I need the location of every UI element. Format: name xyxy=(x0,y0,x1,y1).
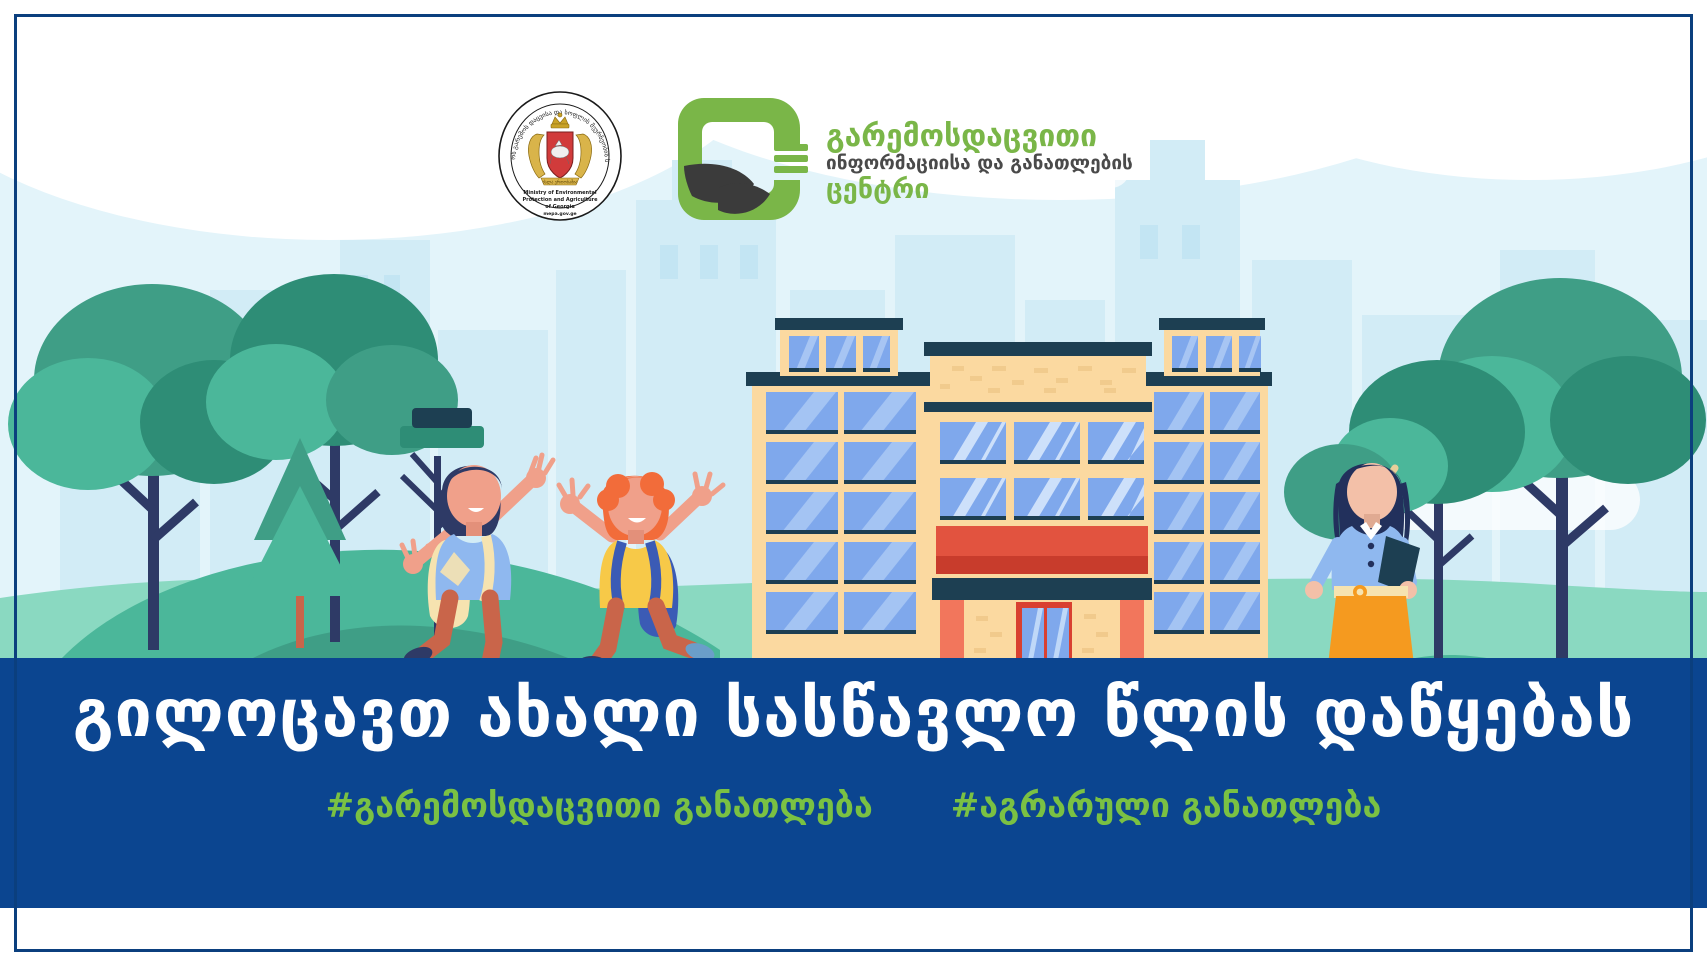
school-building xyxy=(744,280,1274,665)
ceie-wordmark: გარემოსდაცვითი ინფორმაციისა და განათლები… xyxy=(826,122,1116,204)
svg-text:ძალა ერთობაშია: ძალა ერთობაშია xyxy=(542,180,577,185)
student-boy-waving xyxy=(540,450,730,670)
logo-row: საქართველოს გარემოს დაცვისა და სოფლის მე… xyxy=(0,40,1707,200)
ceie-book-mark-icon xyxy=(678,92,818,222)
headline-text: გილოცავთ ახალი სასწავლო წლის დაწყებას xyxy=(0,678,1707,751)
ceie-logo: გარემოსდაცვითი ინფორმაციისა და განათლები… xyxy=(678,92,1108,224)
ceie-line-2: ინფორმაციისა და განათლების xyxy=(826,152,1116,176)
teacher-with-pointer xyxy=(1290,440,1450,665)
seal-english-line-1: Ministry of Environmental xyxy=(523,190,596,196)
hashtag-agrarian-education[interactable]: #აგრარული განათლება xyxy=(951,786,1382,826)
poster-root: გილოცავთ ახალი სასწავლო წლის დაწყებას #გ… xyxy=(0,0,1707,966)
seal-english-line-3: of Georgia xyxy=(545,204,574,210)
ceie-line-1: გარემოსდაცვითი xyxy=(826,122,1116,152)
bottom-banner: გილოცავთ ახალი სასწავლო წლის დაწყებას #გ… xyxy=(0,658,1707,908)
ministry-seal-icon: საქართველოს გარემოს დაცვისა და სოფლის მე… xyxy=(497,90,623,222)
seal-english-line-2: Protection and Agriculture xyxy=(522,197,598,203)
seal-english-line-4: mepa.gov.ge xyxy=(543,212,576,217)
ceie-line-3: ცენტრი xyxy=(826,176,1116,204)
hashtag-environmental-education[interactable]: #გარემოსდაცვითი განათლება xyxy=(326,786,873,826)
hashtag-row: #გარემოსდაცვითი განათლება #აგრარული განა… xyxy=(0,786,1707,826)
